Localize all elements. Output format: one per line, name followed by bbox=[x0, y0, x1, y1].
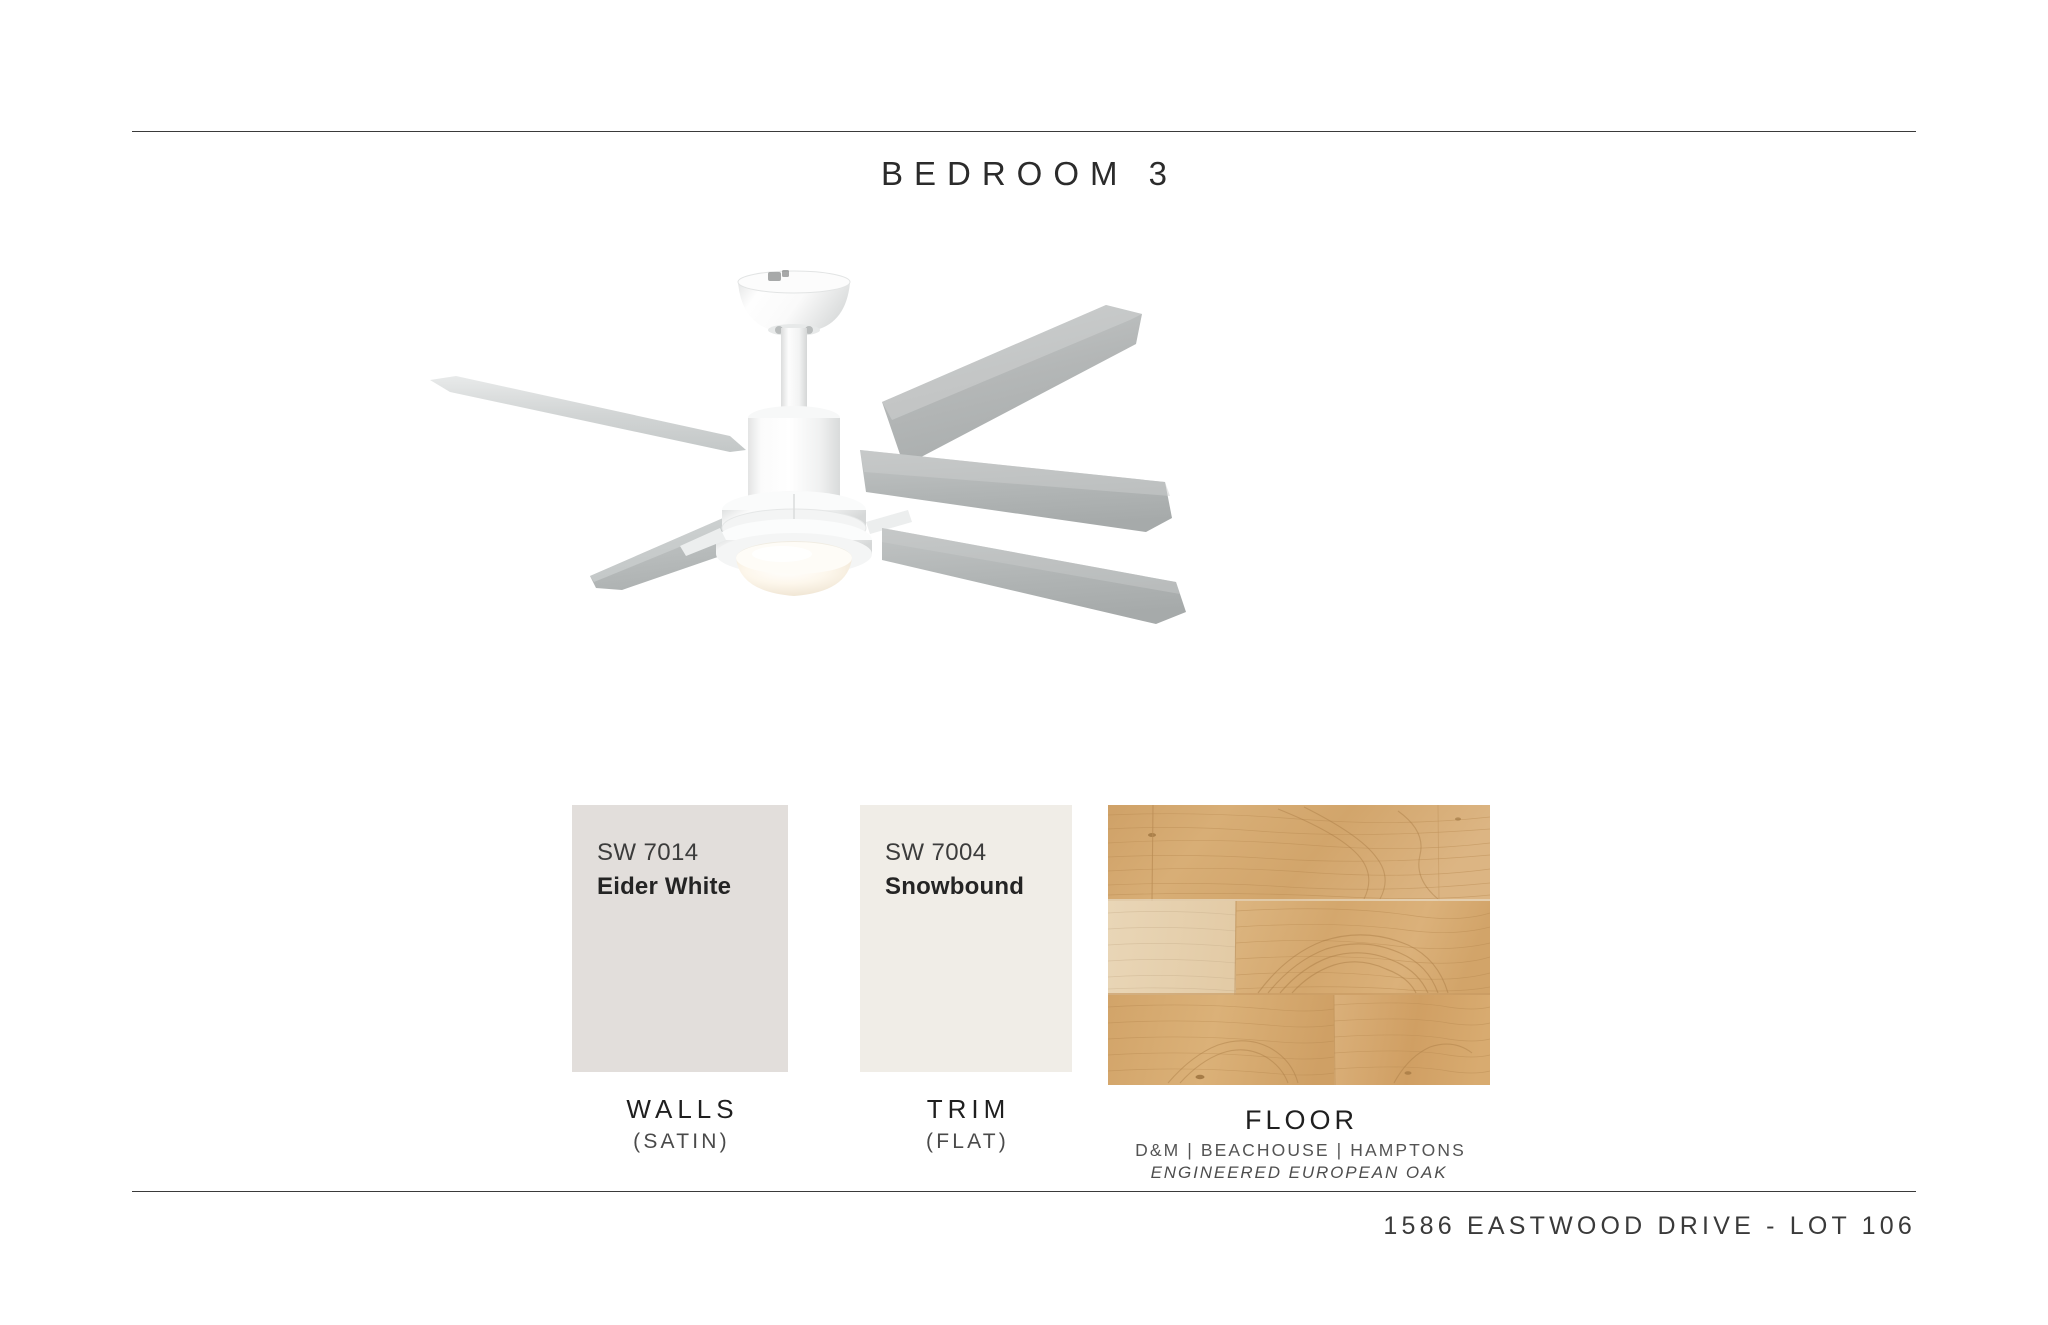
footer-address: 1586 EASTWOOD DRIVE - LOT 106 bbox=[1383, 1212, 1916, 1241]
fan-canopy bbox=[738, 270, 850, 336]
caption-floor-brand: D&M | BEACHOUSE | HAMPTONS bbox=[1108, 1140, 1490, 1161]
selection-floor[interactable]: FLOOR D&M | BEACHOUSE | HAMPTONS ENGINEE… bbox=[1108, 805, 1490, 1183]
fan-downrod bbox=[781, 328, 807, 418]
paint-chip-walls[interactable]: SW 7014 Eider White bbox=[572, 805, 788, 1072]
selection-walls[interactable]: SW 7014 Eider White WALLS (SATIN) bbox=[572, 805, 788, 1154]
wood-plank-texture bbox=[1108, 805, 1490, 1085]
paint-code-walls: SW 7014 bbox=[597, 837, 788, 869]
caption-floor-material: ENGINEERED EUROPEAN OAK bbox=[1108, 1163, 1490, 1183]
caption-trim: TRIM (FLAT) bbox=[860, 1094, 1072, 1154]
caption-walls-label: WALLS bbox=[572, 1094, 788, 1125]
paint-chip-trim[interactable]: SW 7004 Snowbound bbox=[860, 805, 1072, 1072]
ceiling-fan-image bbox=[430, 260, 1590, 750]
selection-swatch-row: SW 7014 Eider White WALLS (SATIN) SW 700… bbox=[572, 805, 1532, 1105]
caption-trim-sheen: (FLAT) bbox=[860, 1130, 1072, 1154]
fan-blade-upper-right bbox=[882, 305, 1142, 466]
fan-blade-left-upper bbox=[430, 376, 746, 452]
selection-trim[interactable]: SW 7004 Snowbound TRIM (FLAT) bbox=[860, 805, 1072, 1154]
caption-floor: FLOOR D&M | BEACHOUSE | HAMPTONS ENGINEE… bbox=[1108, 1105, 1490, 1183]
caption-walls-sheen: (SATIN) bbox=[572, 1130, 788, 1154]
header-divider bbox=[132, 131, 1916, 132]
selection-sheet: BEDROOM 3 bbox=[0, 0, 2048, 1325]
footer-divider bbox=[132, 1191, 1916, 1192]
caption-walls: WALLS (SATIN) bbox=[572, 1094, 788, 1154]
caption-floor-label: FLOOR bbox=[1108, 1105, 1490, 1136]
fan-light-dome bbox=[736, 541, 852, 596]
paint-name-trim: Snowbound bbox=[885, 871, 1072, 903]
page-title: BEDROOM 3 bbox=[0, 155, 2048, 193]
wood-chip-floor[interactable] bbox=[1108, 805, 1490, 1085]
paint-code-trim: SW 7004 bbox=[885, 837, 1072, 869]
paint-name-walls: Eider White bbox=[597, 871, 788, 903]
fan-blade-lower-right bbox=[882, 528, 1186, 624]
caption-trim-label: TRIM bbox=[860, 1094, 1072, 1125]
